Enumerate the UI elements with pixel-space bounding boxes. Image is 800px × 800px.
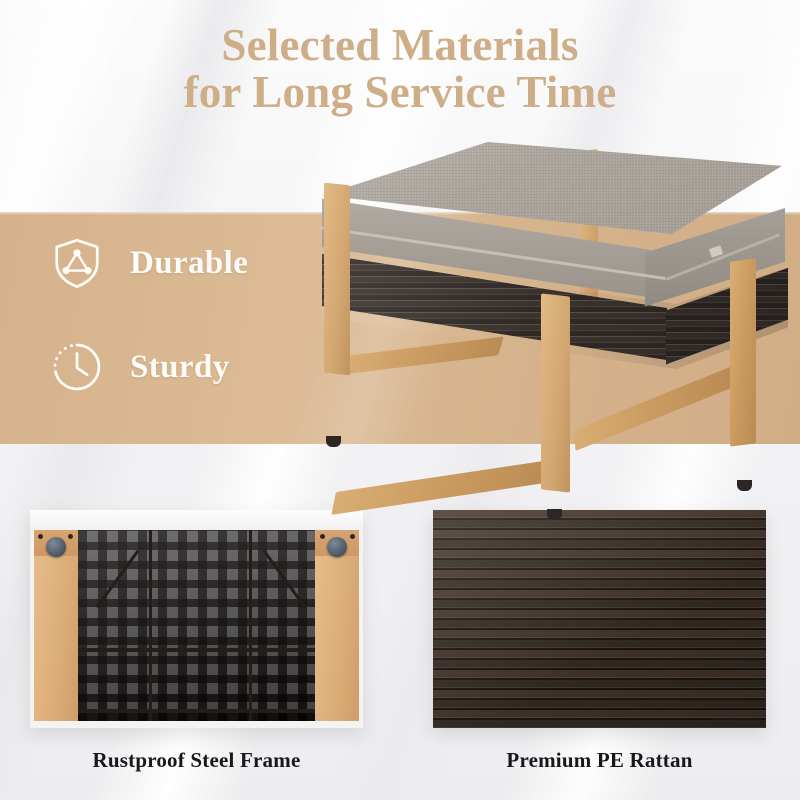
frame-steel-mesh — [78, 530, 315, 721]
frame-screw-icon — [68, 534, 73, 539]
feature-list: Durable Sturdy — [42, 212, 342, 444]
shield-icon — [50, 236, 104, 290]
ottoman-cross-brace — [339, 337, 504, 375]
caption-pe-rattan: Premium PE Rattan — [433, 748, 766, 773]
ottoman-front-sled-rail — [331, 458, 561, 515]
ottoman-product-image — [300, 140, 800, 520]
feature-item-durable: Durable — [50, 236, 248, 290]
frame-wood-post-right — [315, 530, 359, 721]
frame-bolt-cap-icon — [46, 537, 66, 557]
frame-screw-icon — [320, 534, 325, 539]
frame-horizontal-band — [78, 709, 315, 713]
steel-frame-photo — [30, 510, 363, 728]
page-title-line-2: for Long Service Time — [0, 69, 800, 116]
detail-panel-pe-rattan — [433, 510, 766, 728]
feature-label-durable: Durable — [130, 245, 248, 282]
ottoman-front-right-leg — [541, 293, 570, 492]
pe-rattan-photo — [433, 510, 766, 728]
feature-item-sturdy: Sturdy — [50, 340, 230, 394]
detail-panel-steel-frame — [30, 510, 363, 728]
ottoman-foot-pad — [547, 509, 562, 520]
frame-bolt-cap-icon — [327, 537, 347, 557]
product-feature-infographic: Selected Materials for Long Service Time — [0, 0, 800, 800]
frame-screw-icon — [350, 534, 355, 539]
ottoman-right-sled-rail — [574, 366, 735, 451]
caption-steel-frame: Rustproof Steel Frame — [30, 748, 363, 773]
ottoman-foot-pad — [737, 480, 752, 491]
clock-icon — [50, 340, 104, 394]
frame-vertical-post — [249, 530, 252, 721]
feature-label-sturdy: Sturdy — [130, 349, 230, 386]
frame-screw-icon — [38, 534, 43, 539]
page-title: Selected Materials for Long Service Time — [0, 22, 800, 116]
ottoman-back-right-leg — [730, 258, 756, 446]
page-title-line-1: Selected Materials — [221, 20, 578, 70]
frame-horizontal-band — [78, 648, 315, 652]
frame-wood-post-left — [34, 530, 78, 721]
frame-vertical-post — [149, 530, 152, 721]
